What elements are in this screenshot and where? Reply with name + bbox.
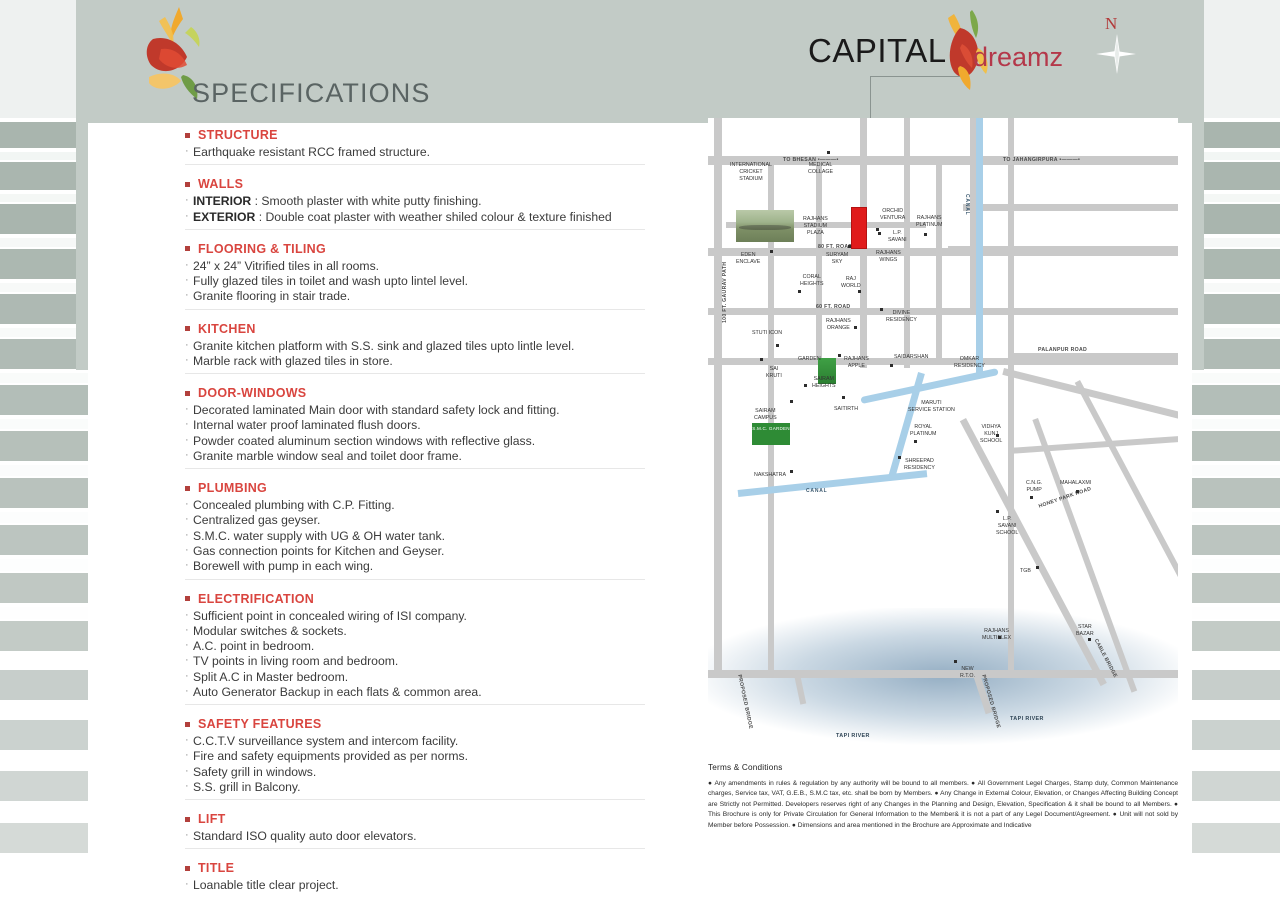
bullet-square-icon <box>185 246 190 251</box>
spec-item: ·S.S. grill in Balcony. <box>185 780 645 794</box>
tapi-river-area <box>708 608 1178 758</box>
stripe-edge <box>1192 0 1204 370</box>
bullet-square-icon <box>185 391 190 396</box>
map-poi-dot <box>776 344 779 347</box>
map-road-label-60ft: 60 FT. ROAD <box>816 304 850 310</box>
decorative-stripe <box>0 249 88 279</box>
compass-rose-icon: N <box>1088 16 1146 78</box>
decorative-stripe <box>0 857 88 870</box>
bullet-square-icon <box>185 596 190 601</box>
spec-item-text: Borewell with pump in each wing. <box>193 559 645 573</box>
map-road-horizontal <box>963 204 1178 211</box>
map-road-horizontal <box>708 308 1178 315</box>
spec-item-text: Loanable title clear project. <box>193 878 645 892</box>
bullet-dot-icon: · <box>185 418 193 432</box>
location-map: CANALCANALTO BHESAN •———•TO JAHANGIRPURA… <box>708 118 1178 758</box>
spec-group: LIFT·Standard ISO quality auto door elev… <box>185 812 645 849</box>
spec-group: PLUMBING·Concealed plumbing with C.P. Fi… <box>185 481 645 579</box>
spec-group-heading: PLUMBING <box>185 481 645 495</box>
decorative-stripe <box>1192 249 1280 279</box>
decorative-stripe <box>1192 152 1280 160</box>
decorative-stripe <box>0 152 88 160</box>
map-green-block-label: S.M.C. GARDEN <box>752 423 790 432</box>
decorative-stripe <box>0 525 88 555</box>
map-poi-label: RAJHANS MULTIPLEX <box>982 628 1011 642</box>
map-poi-label: TGB <box>1020 568 1031 575</box>
map-poi-label: RAJHANS PLATINUM <box>916 215 942 229</box>
bullet-dot-icon: · <box>185 194 193 208</box>
spec-item-text: Concealed plumbing with C.P. Fitting. <box>193 498 645 512</box>
map-stadium-photo <box>736 210 794 242</box>
spec-group-heading-label: LIFT <box>198 812 226 826</box>
map-poi-dot <box>998 636 1001 639</box>
map-canal <box>976 118 983 378</box>
map-poi-dot <box>890 364 893 367</box>
left-stripe-margin <box>0 0 88 870</box>
spec-item-text: Gas connection points for Kitchen and Ge… <box>193 544 645 558</box>
bullet-dot-icon: · <box>185 780 193 794</box>
terms-title: Terms & Conditions <box>708 763 1178 772</box>
decorative-stripe <box>0 621 88 651</box>
spec-item-text: S.M.C. water supply with UG & OH water t… <box>193 529 645 543</box>
map-road-vertical <box>1008 118 1014 678</box>
decorative-stripe <box>0 704 88 718</box>
spec-item: ·EXTERIOR : Double coat plaster with wea… <box>185 210 645 224</box>
map-road-horizontal <box>1008 353 1178 359</box>
decorative-stripe <box>0 805 88 821</box>
decorative-stripe <box>0 559 88 571</box>
map-poi-dot <box>1076 490 1079 493</box>
spec-group: WALLS·INTERIOR : Smooth plaster with whi… <box>185 177 645 230</box>
bullet-square-icon <box>185 866 190 871</box>
decorative-stripe <box>0 465 88 476</box>
bullet-square-icon <box>185 722 190 727</box>
map-poi-label: SAIRAM CAMPUS <box>754 408 777 422</box>
spec-item-text: EXTERIOR : Double coat plaster with weat… <box>193 210 645 224</box>
map-poi-dot <box>878 232 881 235</box>
map-poi-label: STUTI ICON <box>752 330 782 337</box>
map-poi-label: L.P. SAVANI SCHOOL <box>996 516 1018 536</box>
decorative-stripe <box>0 204 88 234</box>
bullet-dot-icon: · <box>185 685 193 699</box>
bullet-square-icon <box>185 182 190 187</box>
bullet-dot-icon: · <box>185 529 193 543</box>
spec-item-label: INTERIOR <box>193 194 251 208</box>
spec-item: ·Fully glazed tiles in toilet and wash u… <box>185 274 645 288</box>
bullet-dot-icon: · <box>185 670 193 684</box>
decorative-stripe <box>1192 720 1280 750</box>
decorative-stripe <box>0 754 88 769</box>
brand-capital-text: CAPITAL <box>808 32 947 70</box>
bullet-dot-icon: · <box>185 624 193 638</box>
spec-item-text: Fire and safety equipments provided as p… <box>193 749 645 763</box>
decorative-stripe <box>0 0 88 118</box>
map-poi-label: ORCHID VENTURA <box>880 208 905 222</box>
decorative-stripe <box>0 373 88 383</box>
bullet-square-icon <box>185 486 190 491</box>
brand-lockup: CAPITAL dreamz <box>808 28 1068 86</box>
spec-group-heading: KITCHEN <box>185 322 645 336</box>
spec-item-text: Split A.C in Master bedroom. <box>193 670 645 684</box>
map-poi-label: NEW R.T.O. <box>960 666 975 680</box>
spec-group-heading-label: KITCHEN <box>198 322 256 336</box>
bullet-dot-icon: · <box>185 434 193 448</box>
decorative-stripe <box>1192 465 1280 476</box>
map-poi-dot <box>854 326 857 329</box>
project-location-marker <box>851 207 867 249</box>
map-road-diagonal <box>1008 427 1178 454</box>
map-poi-dot <box>770 250 773 253</box>
decorative-stripe <box>0 283 88 292</box>
right-stripe-margin <box>1192 0 1280 870</box>
decorative-stripe <box>0 573 88 603</box>
decorative-stripe <box>0 478 88 508</box>
decorative-stripe <box>1192 771 1280 801</box>
decorative-stripe <box>0 771 88 801</box>
decorative-stripe <box>1192 670 1280 700</box>
decorative-stripe <box>1192 525 1280 555</box>
map-poi-label: MARUTI SERVICE STATION <box>908 400 955 414</box>
spec-item-text: A.C. point in bedroom. <box>193 639 645 653</box>
map-poi-dot <box>1088 638 1091 641</box>
decorative-stripe <box>0 823 88 853</box>
map-road-vertical <box>936 156 942 361</box>
map-road-label-palanpur: PALANPUR ROAD <box>1038 347 1087 353</box>
map-road-horizontal <box>708 358 1178 365</box>
map-poi-dot <box>880 308 883 311</box>
bullet-dot-icon: · <box>185 259 193 273</box>
bullet-dot-icon: · <box>185 403 193 417</box>
decorative-stripe <box>1192 238 1280 247</box>
spec-item: ·Centralized gas geyser. <box>185 513 645 527</box>
decorative-stripe <box>1192 655 1280 668</box>
map-poi-label: L.P. SAVANI <box>888 230 907 244</box>
map-road-horizontal <box>708 156 1178 165</box>
spec-item-text: TV points in living room and bedroom. <box>193 654 645 668</box>
map-poi-label: MEDICAL COLLAGE <box>808 162 833 176</box>
spec-group-heading-label: FLOORING & TILING <box>198 242 326 256</box>
spec-item: ·Loanable title clear project. <box>185 878 645 892</box>
map-poi-label: C.N.G. PUMP <box>1026 480 1042 494</box>
bullet-dot-icon: · <box>185 210 193 224</box>
bullet-square-icon <box>185 326 190 331</box>
map-poi-label: SAITIRTH <box>834 406 858 413</box>
spec-item-text: Sufficient point in concealed wiring of … <box>193 609 645 623</box>
map-poi-label: SAI KRUTI <box>766 366 782 380</box>
terms-and-conditions: Terms & Conditions ● Any amendments in r… <box>708 763 1178 831</box>
bullet-dot-icon: · <box>185 639 193 653</box>
spec-group: DOOR-WINDOWS·Decorated laminated Main do… <box>185 386 645 469</box>
spec-item-text: Safety grill in windows. <box>193 765 645 779</box>
decorative-stripe <box>1192 621 1280 651</box>
decorative-stripe <box>0 294 88 324</box>
spec-item-text: Auto Generator Backup in each flats & co… <box>193 685 645 699</box>
page-title: SPECIFICATIONS <box>192 78 430 109</box>
map-poi-label: OMKAR RESIDENCY <box>954 356 985 370</box>
decorative-stripe <box>1192 478 1280 508</box>
spec-item-text: INTERIOR : Smooth plaster with white put… <box>193 194 645 208</box>
map-poi-dot <box>798 290 801 293</box>
spec-item-text: S.S. grill in Balcony. <box>193 780 645 794</box>
spec-group-heading-label: STRUCTURE <box>198 128 278 142</box>
header-band: SPECIFICATIONS CAPITAL dreamz <box>88 0 1192 123</box>
decorative-stripe <box>0 512 88 523</box>
spec-item: ·Gas connection points for Kitchen and G… <box>185 544 645 558</box>
spec-group-heading: LIFT <box>185 812 645 826</box>
bullet-dot-icon: · <box>185 654 193 668</box>
map-poi-dot <box>848 245 851 248</box>
map-poi-label: DIVINE RESIDENCY <box>886 310 917 324</box>
spec-item-text: Standard ISO quality auto door elevators… <box>193 829 645 843</box>
decorative-stripe <box>1192 204 1280 234</box>
spec-item: ·Internal water proof laminated flush do… <box>185 418 645 432</box>
decorative-stripe <box>1192 704 1280 718</box>
bullet-dot-icon: · <box>185 513 193 527</box>
map-green-block-smc-garden: S.M.C. GARDEN <box>752 423 790 445</box>
spec-item: ·Earthquake resistant RCC framed structu… <box>185 145 645 159</box>
map-poi-dot <box>838 354 841 357</box>
spec-item: ·Granite flooring in stair trade. <box>185 289 645 303</box>
map-poi-dot <box>924 233 927 236</box>
decorative-stripe <box>1192 857 1280 870</box>
map-poi-label: EDEN ENCLAVE <box>736 252 760 266</box>
map-poi-dot <box>827 151 830 154</box>
decorative-stripe <box>0 162 88 190</box>
map-road-label-gaurav-path: 100 FT. GAURAV PATH <box>722 262 728 323</box>
bullet-dot-icon: · <box>185 765 193 779</box>
spec-item: ·Granite marble window seal and toilet d… <box>185 449 645 463</box>
spec-item-text: Powder coated aluminum section windows w… <box>193 434 645 448</box>
map-river-label: TAPI RIVER <box>1010 716 1044 722</box>
map-poi-dot <box>760 358 763 361</box>
spec-group-heading-label: WALLS <box>198 177 243 191</box>
map-poi-label: VIDHYA KUNJ SCHOOL <box>980 424 1002 444</box>
spec-item-text: Granite marble window seal and toilet do… <box>193 449 645 463</box>
bullet-dot-icon: · <box>185 609 193 623</box>
bullet-square-icon <box>185 133 190 138</box>
spec-item-text: Earthquake resistant RCC framed structur… <box>193 145 645 159</box>
map-poi-label: GARDEN <box>798 356 821 363</box>
spec-item: ·Fire and safety equipments provided as … <box>185 749 645 763</box>
spec-group: FLOORING & TILING·24” x 24” Vitrified ti… <box>185 242 645 310</box>
map-river-label: TAPI RIVER <box>836 733 870 739</box>
bullet-dot-icon: · <box>185 749 193 763</box>
map-poi-dot <box>898 456 901 459</box>
spec-group-heading-label: ELECTRIFICATION <box>198 592 314 606</box>
map-poi-label: SAIRAM HEIGHTS <box>812 376 836 390</box>
spec-group-heading: WALLS <box>185 177 645 191</box>
map-canal-label: CANAL <box>964 194 970 216</box>
spec-group-heading: FLOORING & TILING <box>185 242 645 256</box>
decorative-stripe <box>1192 805 1280 821</box>
leader-line-horizontal <box>870 76 960 77</box>
decorative-stripe <box>1192 512 1280 523</box>
decorative-stripe <box>1192 559 1280 571</box>
brand-dreamz-text: dreamz <box>973 42 1063 73</box>
map-poi-dot <box>996 434 999 437</box>
decorative-stripe <box>1192 339 1280 369</box>
spec-item-text: C.C.T.V surveillance system and intercom… <box>193 734 645 748</box>
spec-item-text: 24” x 24” Vitrified tiles in all rooms. <box>193 259 645 273</box>
map-poi-dot <box>804 384 807 387</box>
map-canal-label: CANAL <box>806 488 828 494</box>
spec-group: KITCHEN·Granite kitchen platform with S.… <box>185 322 645 375</box>
map-poi-label: SAIDARSHAN <box>894 354 928 361</box>
map-poi-dot <box>954 660 957 663</box>
decorative-stripe <box>1192 283 1280 292</box>
spec-item-text: Fully glazed tiles in toilet and wash up… <box>193 274 645 288</box>
map-poi-dot <box>996 510 999 513</box>
spec-group-heading-label: SAFETY FEATURES <box>198 717 322 731</box>
spec-item-text: Granite flooring in stair trade. <box>193 289 645 303</box>
decorative-stripe <box>0 194 88 202</box>
stripe-edge <box>76 0 88 370</box>
map-poi-dot <box>790 400 793 403</box>
decorative-stripe <box>0 720 88 750</box>
spec-item-text: Centralized gas geyser. <box>193 513 645 527</box>
decorative-stripe <box>0 419 88 429</box>
spec-group-heading: ELECTRIFICATION <box>185 592 645 606</box>
map-poi-dot <box>842 396 845 399</box>
map-poi-label: RAJHANS APPLE <box>844 356 869 370</box>
spec-item: ·Powder coated aluminum section windows … <box>185 434 645 448</box>
map-road-label-to-jahangirpura: TO JAHANGIRPURA •———• <box>1003 157 1080 163</box>
map-road-horizontal <box>708 670 1178 678</box>
spec-item: ·A.C. point in bedroom. <box>185 639 645 653</box>
spec-group-heading: DOOR-WINDOWS <box>185 386 645 400</box>
bullet-dot-icon: · <box>185 544 193 558</box>
spec-item: ·Concealed plumbing with C.P. Fitting. <box>185 498 645 512</box>
bullet-dot-icon: · <box>185 498 193 512</box>
decorative-stripe <box>0 655 88 668</box>
map-poi-label: SHREEPAD RESIDENCY <box>904 458 935 472</box>
spec-group-heading: STRUCTURE <box>185 128 645 142</box>
decorative-stripe <box>1192 328 1280 337</box>
map-poi-label: NAKSHATRA <box>754 472 786 479</box>
decorative-stripe <box>1192 754 1280 769</box>
bullet-dot-icon: · <box>185 339 193 353</box>
decorative-stripe <box>1192 0 1280 118</box>
bullet-dot-icon: · <box>185 559 193 573</box>
map-poi-dot <box>1030 496 1033 499</box>
spec-group: ELECTRIFICATION·Sufficient point in conc… <box>185 592 645 706</box>
spec-item: ·Borewell with pump in each wing. <box>185 559 645 573</box>
spec-item: ·24” x 24” Vitrified tiles in all rooms. <box>185 259 645 273</box>
map-poi-label: SURYAM SKY <box>826 252 848 266</box>
spec-group-heading-label: TITLE <box>198 861 234 875</box>
bullet-dot-icon: · <box>185 289 193 303</box>
spec-item: ·Sufficient point in concealed wiring of… <box>185 609 645 623</box>
spec-item: ·Safety grill in windows. <box>185 765 645 779</box>
decorative-stripe <box>0 385 88 415</box>
spec-item-text: Internal water proof laminated flush doo… <box>193 418 645 432</box>
spec-item: ·Auto Generator Backup in each flats & c… <box>185 685 645 699</box>
spec-group-heading: TITLE <box>185 861 645 875</box>
map-poi-label: CORAL HEIGHTS <box>800 274 824 288</box>
decorative-stripe <box>0 328 88 337</box>
spec-item: ·INTERIOR : Smooth plaster with white pu… <box>185 194 645 208</box>
bullet-dot-icon: · <box>185 829 193 843</box>
spec-item: ·Granite kitchen platform with S.S. sink… <box>185 339 645 353</box>
decorative-stripe <box>1192 431 1280 461</box>
spec-item-text: Granite kitchen platform with S.S. sink … <box>193 339 645 353</box>
bullet-dot-icon: · <box>185 274 193 288</box>
spec-group-heading-label: PLUMBING <box>198 481 267 495</box>
map-poi-dot <box>1036 566 1039 569</box>
map-poi-label: RAJHANS STADIUM PLAZA <box>803 216 828 236</box>
map-poi-label: STAR BAZAR <box>1076 624 1094 638</box>
map-poi-label: RAJHANS WINGS <box>876 250 901 264</box>
decorative-stripe <box>0 238 88 247</box>
map-poi-label: INTERNATIONAL CRICKET STADIUM <box>730 162 772 182</box>
terms-body: ● Any amendments in rules & regulation b… <box>708 779 1178 831</box>
brochure-page: SPECIFICATIONS CAPITAL dreamz <box>88 0 1192 870</box>
map-poi-dot <box>914 440 917 443</box>
map-poi-label: MAHALAXMI <box>1060 480 1091 487</box>
decorative-stripe <box>1192 373 1280 383</box>
decorative-stripe <box>1192 823 1280 853</box>
spec-group-heading-label: DOOR-WINDOWS <box>198 386 306 400</box>
bullet-dot-icon: · <box>185 145 193 159</box>
spec-item-text: Modular switches & sockets. <box>193 624 645 638</box>
bullet-dot-icon: · <box>185 734 193 748</box>
decorative-stripe <box>0 670 88 700</box>
decorative-stripe <box>0 431 88 461</box>
spec-item: ·S.M.C. water supply with UG & OH water … <box>185 529 645 543</box>
spec-item: ·Split A.C in Master bedroom. <box>185 670 645 684</box>
map-canal-curve <box>860 368 998 404</box>
map-poi-label: RAJHANS ORANGE <box>826 318 851 332</box>
bullet-dot-icon: · <box>185 878 193 892</box>
compass-north-label: N <box>1105 14 1117 34</box>
map-poi-dot <box>790 470 793 473</box>
decorative-stripe <box>1192 194 1280 202</box>
spec-item: ·Decorated laminated Main door with stan… <box>185 403 645 417</box>
spec-group: SAFETY FEATURES·C.C.T.V surveillance sys… <box>185 717 645 800</box>
map-road-vertical <box>714 118 722 678</box>
decorative-stripe <box>1192 607 1280 619</box>
decorative-stripe <box>0 122 88 148</box>
map-poi-label: ROYAL PLATINUM <box>910 424 936 438</box>
spec-item: ·Standard ISO quality auto door elevator… <box>185 829 645 843</box>
decorative-stripe <box>1192 162 1280 190</box>
decorative-stripe <box>1192 419 1280 429</box>
map-poi-dot <box>876 228 879 231</box>
bullet-dot-icon: · <box>185 449 193 463</box>
spec-group-heading: SAFETY FEATURES <box>185 717 645 731</box>
spec-item-text: Marble rack with glazed tiles in store. <box>193 354 645 368</box>
bullet-dot-icon: · <box>185 354 193 368</box>
spec-item-label: EXTERIOR <box>193 210 255 224</box>
decorative-stripe <box>0 339 88 369</box>
decorative-stripe <box>1192 122 1280 148</box>
spec-item: ·Marble rack with glazed tiles in store. <box>185 354 645 368</box>
map-poi-dot <box>858 290 861 293</box>
decorative-stripe <box>1192 294 1280 324</box>
map-poi-label: RAJ WORLD <box>841 276 861 290</box>
decorative-stripe <box>1192 385 1280 415</box>
decorative-stripe <box>1192 573 1280 603</box>
decorative-stripe <box>0 607 88 619</box>
specifications-list: STRUCTURE·Earthquake resistant RCC frame… <box>185 128 645 910</box>
spec-item: ·C.C.T.V surveillance system and interco… <box>185 734 645 748</box>
spec-group: TITLE·Loanable title clear project. <box>185 861 645 897</box>
spec-group: STRUCTURE·Earthquake resistant RCC frame… <box>185 128 645 165</box>
spec-item: ·Modular switches & sockets. <box>185 624 645 638</box>
map-road-vertical <box>816 156 822 361</box>
spec-item-text: Decorated laminated Main door with stand… <box>193 403 645 417</box>
bullet-square-icon <box>185 817 190 822</box>
